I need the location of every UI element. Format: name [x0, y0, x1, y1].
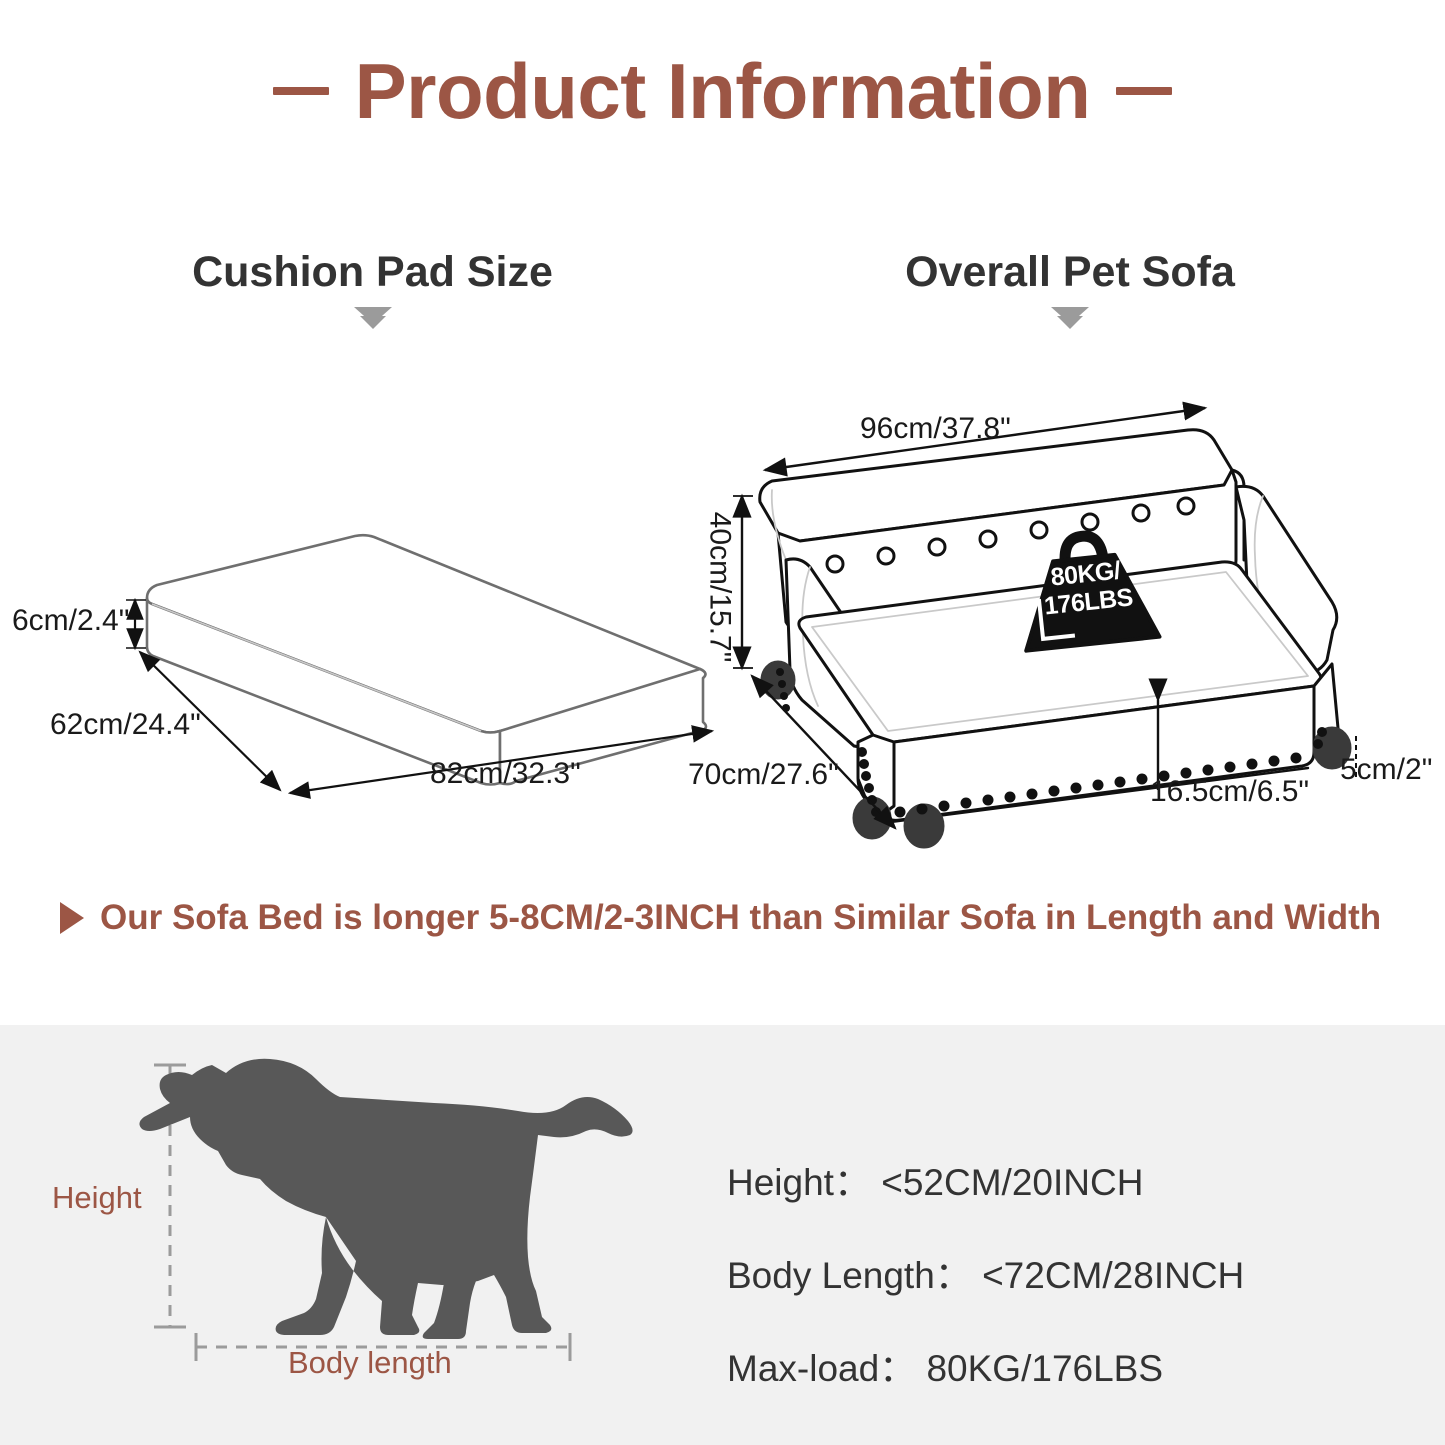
spec-key-height: Height：	[727, 1162, 871, 1203]
weight-capacity-tag: 80KG/ 176LBS	[1004, 514, 1171, 661]
spec-key-body-length: Body Length：	[727, 1255, 972, 1296]
spec-key-max-load: Max-load：	[727, 1348, 916, 1389]
tagline-text: Our Sofa Bed is longer 5-8CM/2-3INCH tha…	[100, 898, 1381, 938]
pet-spec-list: Height： <52CM/20INCH Body Length： <72CM/…	[727, 1152, 1244, 1392]
spec-row-body-length: Body Length： <72CM/28INCH	[727, 1245, 1244, 1299]
spec-value-height: <52CM/20INCH	[881, 1162, 1143, 1203]
sofa-width-label: 96cm/37.8"	[860, 412, 1011, 446]
sofa-depth-label: 70cm/27.6"	[688, 758, 839, 792]
spec-row-max-load: Max-load： 80KG/176LBS	[727, 1338, 1244, 1392]
sofa-height-label: 40cm/15.7"	[702, 512, 736, 663]
spec-value-max-load: 80KG/176LBS	[926, 1348, 1163, 1389]
tagline-row: Our Sofa Bed is longer 5-8CM/2-3INCH tha…	[60, 898, 1435, 938]
seat-height-label: 16.5cm/6.5"	[1150, 775, 1309, 809]
cushion-thickness-label: 6cm/2.4"	[12, 604, 129, 638]
spec-value-body-length: <72CM/28INCH	[982, 1255, 1244, 1296]
dog-silhouette-icon	[139, 1059, 632, 1339]
leg-height-label: 5cm/2"	[1340, 753, 1432, 787]
cushion-pad-illustration	[147, 535, 706, 784]
height-measure-label: Height	[52, 1180, 142, 1216]
body-length-measure-label: Body length	[288, 1345, 452, 1381]
diagram-svg	[0, 0, 1445, 1010]
cushion-depth-label: 62cm/24.4"	[50, 708, 201, 742]
cushion-width-label: 82cm/32.3"	[430, 757, 581, 791]
triangle-right-icon	[60, 902, 84, 934]
spec-row-height: Height： <52CM/20INCH	[727, 1152, 1244, 1206]
product-diagrams: 6cm/2.4" 62cm/24.4" 82cm/32.3" 96cm/37.8…	[0, 0, 1445, 1010]
